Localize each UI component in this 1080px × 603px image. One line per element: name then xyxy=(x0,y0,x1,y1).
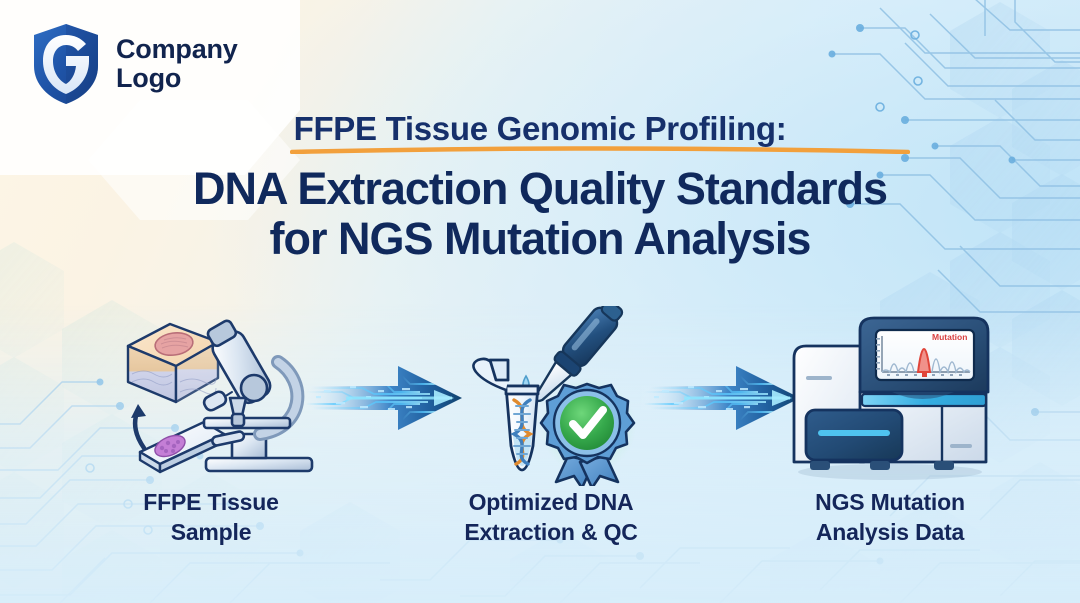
brand-name: Company Logo xyxy=(116,35,238,93)
caption-line1: FFPE Tissue xyxy=(96,488,326,518)
caption-line2: Sample xyxy=(96,518,326,548)
page-title: DNA Extraction Quality Standards for NGS… xyxy=(0,164,1080,265)
caption-line2: Extraction & QC xyxy=(425,518,677,548)
flow-captions: FFPE Tissue Sample Optimized DNA Extract… xyxy=(0,488,1080,558)
dna-tube-pipette-qc-badge-icon xyxy=(456,306,646,486)
eyebrow-underline xyxy=(290,146,910,154)
process-flow: Mutation xyxy=(0,306,1080,496)
caption-line1: Optimized DNA xyxy=(425,488,677,518)
eyebrow-wrapper: FFPE Tissue Genomic Profiling: xyxy=(294,110,787,148)
brand-logo[interactable]: Company Logo xyxy=(30,22,238,106)
qc-check-badge-icon xyxy=(541,384,634,486)
page-title-line2: for NGS Mutation Analysis xyxy=(0,214,1080,264)
page-title-line1: DNA Extraction Quality Standards xyxy=(0,164,1080,214)
arrow-step2-to-step3 xyxy=(640,358,800,438)
circuit-arrow-right-icon xyxy=(640,358,800,438)
brand-name-line1: Company xyxy=(116,35,238,64)
flow-step-ffpe-tissue-sample xyxy=(108,306,326,486)
caption-ffpe-tissue-sample: FFPE Tissue Sample xyxy=(96,488,326,548)
tissue-block-slide-microscope-icon xyxy=(108,306,326,486)
poster-canvas: Company Logo FFPE Tissue Genomic Profili… xyxy=(0,0,1080,603)
flow-step-optimized-dna-extraction-qc xyxy=(456,306,646,486)
headline-block: FFPE Tissue Genomic Profiling: DNA Extra… xyxy=(0,110,1080,265)
circuit-arrow-right-icon xyxy=(302,358,462,438)
caption-line2: Analysis Data xyxy=(770,518,1010,548)
caption-ngs-mutation-analysis-data: NGS Mutation Analysis Data xyxy=(770,488,1010,548)
ngs-sequencer-icon: Mutation xyxy=(782,306,998,486)
mutation-label: Mutation xyxy=(932,332,967,342)
flow-step-ngs-mutation-analysis-data: Mutation xyxy=(782,306,998,486)
shield-g-monogram-icon xyxy=(30,22,102,106)
eyebrow-text: FFPE Tissue Genomic Profiling: xyxy=(294,110,787,148)
caption-optimized-dna-extraction-qc: Optimized DNA Extraction & QC xyxy=(425,488,677,548)
brand-name-line2: Logo xyxy=(116,64,238,93)
arrow-step1-to-step2 xyxy=(302,358,462,438)
caption-line1: NGS Mutation xyxy=(770,488,1010,518)
